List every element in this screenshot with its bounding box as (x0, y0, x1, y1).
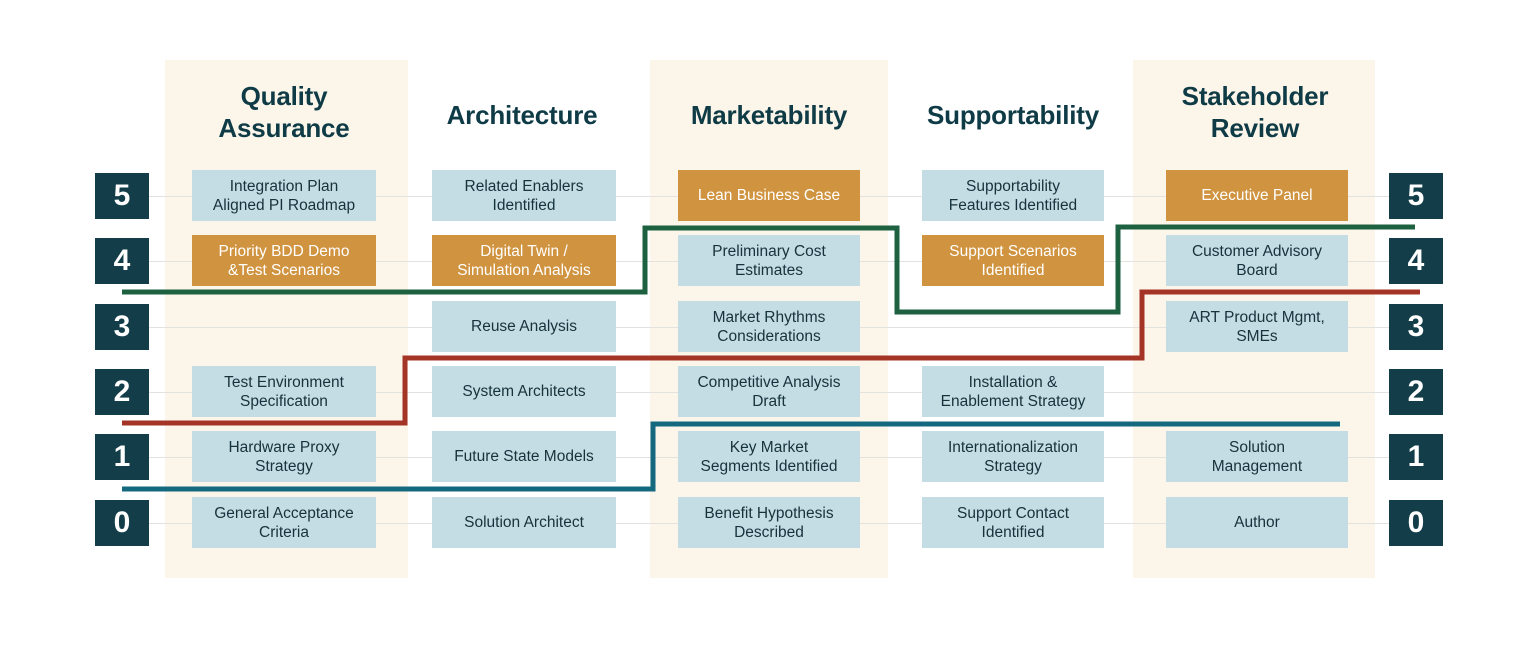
cell-quality-assurance-level-2[interactable]: Test EnvironmentSpecification (192, 366, 376, 417)
level-badge-right-5: 5 (1389, 173, 1443, 219)
cell-stakeholder-review-level-1[interactable]: SolutionManagement (1166, 431, 1348, 482)
cell-label-line: Identified (465, 196, 584, 215)
cell-label: Installation &Enablement Strategy (941, 373, 1086, 411)
maturity-matrix-diagram: QualityAssuranceArchitectureMarketabilit… (0, 0, 1536, 647)
column-header-line: Supportability (908, 99, 1118, 131)
cell-supportability-level-5[interactable]: SupportabilityFeatures Identified (922, 170, 1104, 221)
cell-label-line: Customer Advisory (1192, 242, 1322, 261)
cell-label-line: Related Enablers (465, 177, 584, 196)
cell-architecture-level-1[interactable]: Future State Models (432, 431, 616, 482)
cell-marketability-level-5[interactable]: Lean Business Case (678, 170, 860, 221)
cell-label-line: Supportability (949, 177, 1077, 196)
cell-label: Solution Architect (464, 513, 584, 532)
cell-label: System Architects (462, 382, 585, 401)
cell-marketability-level-1[interactable]: Key MarketSegments Identified (678, 431, 860, 482)
cell-label: Digital Twin /Simulation Analysis (457, 242, 591, 280)
cell-label-line: Author (1234, 513, 1280, 532)
cell-label-line: Criteria (214, 523, 354, 542)
cell-label-line: Installation & (941, 373, 1086, 392)
cell-supportability-level-0[interactable]: Support ContactIdentified (922, 497, 1104, 548)
cell-label: Future State Models (454, 447, 594, 466)
column-header-line: Stakeholder (1135, 80, 1375, 112)
cell-quality-assurance-level-4[interactable]: Priority BDD Demo&Test Scenarios (192, 235, 376, 286)
cell-label-line: Identified (949, 261, 1077, 280)
column-header-line: Assurance (168, 112, 400, 144)
cell-label-line: System Architects (462, 382, 585, 401)
cell-label-line: General Acceptance (214, 504, 354, 523)
cell-supportability-level-4[interactable]: Support ScenariosIdentified (922, 235, 1104, 286)
cell-label: Benefit HypothesisDescribed (704, 504, 833, 542)
cell-label-line: Strategy (948, 457, 1078, 476)
cell-label-line: Benefit Hypothesis (704, 504, 833, 523)
cell-label-line: Estimates (712, 261, 826, 280)
level-badge-value: 2 (114, 375, 131, 409)
cell-stakeholder-review-level-5[interactable]: Executive Panel (1166, 170, 1348, 221)
cell-architecture-level-0[interactable]: Solution Architect (432, 497, 616, 548)
cell-supportability-level-1[interactable]: InternationalizationStrategy (922, 431, 1104, 482)
cell-label-line: &Test Scenarios (219, 261, 350, 280)
cell-architecture-level-2[interactable]: System Architects (432, 366, 616, 417)
cell-label-line: Draft (697, 392, 840, 411)
cell-label: Related EnablersIdentified (465, 177, 584, 215)
level-badge-value: 0 (114, 506, 131, 540)
level-badge-left-0: 0 (95, 500, 149, 546)
cell-stakeholder-review-level-0[interactable]: Author (1166, 497, 1348, 548)
cell-label-line: Integration Plan (213, 177, 355, 196)
cell-label: Competitive AnalysisDraft (697, 373, 840, 411)
level-badge-right-3: 3 (1389, 304, 1443, 350)
cell-label: Customer AdvisoryBoard (1192, 242, 1322, 280)
cell-label: Market RhythmsConsiderations (713, 308, 826, 346)
level-badge-left-5: 5 (95, 173, 149, 219)
cell-label: Test EnvironmentSpecification (224, 373, 344, 411)
level-badge-value: 3 (1408, 310, 1425, 344)
cell-label-line: Board (1192, 261, 1322, 280)
cell-label-line: Support Scenarios (949, 242, 1077, 261)
level-badge-value: 0 (1408, 506, 1425, 540)
cell-label-line: Reuse Analysis (471, 317, 577, 336)
column-header-architecture: Architecture (430, 99, 614, 131)
cell-label-line: Future State Models (454, 447, 594, 466)
cell-architecture-level-4[interactable]: Digital Twin /Simulation Analysis (432, 235, 616, 286)
cell-label: Key MarketSegments Identified (700, 438, 837, 476)
cell-stakeholder-review-level-3[interactable]: ART Product Mgmt,SMEs (1166, 301, 1348, 352)
cell-label-line: Priority BDD Demo (219, 242, 350, 261)
level-badge-right-4: 4 (1389, 238, 1443, 284)
cell-marketability-level-2[interactable]: Competitive AnalysisDraft (678, 366, 860, 417)
cell-label-line: Solution Architect (464, 513, 584, 532)
cell-label: Lean Business Case (698, 186, 840, 205)
cell-label-line: Competitive Analysis (697, 373, 840, 392)
level-badge-value: 5 (114, 179, 131, 213)
cell-label: Integration PlanAligned PI Roadmap (213, 177, 355, 215)
cell-marketability-level-3[interactable]: Market RhythmsConsiderations (678, 301, 860, 352)
cell-label: Support ContactIdentified (957, 504, 1069, 542)
cell-label-line: Features Identified (949, 196, 1077, 215)
column-header-stakeholder-review: StakeholderReview (1135, 80, 1375, 144)
cell-label-line: Internationalization (948, 438, 1078, 457)
level-badge-left-1: 1 (95, 434, 149, 480)
cell-label: SolutionManagement (1212, 438, 1302, 476)
cell-label: Priority BDD Demo&Test Scenarios (219, 242, 350, 280)
column-header-line: Quality (168, 80, 400, 112)
cell-label-line: Lean Business Case (698, 186, 840, 205)
cell-label-line: Described (704, 523, 833, 542)
cell-label-line: Digital Twin / (457, 242, 591, 261)
cell-quality-assurance-level-1[interactable]: Hardware ProxyStrategy (192, 431, 376, 482)
level-badge-value: 3 (114, 310, 131, 344)
cell-label: Preliminary CostEstimates (712, 242, 826, 280)
level-badge-value: 1 (114, 440, 131, 474)
cell-architecture-level-5[interactable]: Related EnablersIdentified (432, 170, 616, 221)
cell-label-line: Management (1212, 457, 1302, 476)
column-header-line: Architecture (430, 99, 614, 131)
column-header-supportability: Supportability (908, 99, 1118, 131)
cell-label-line: Aligned PI Roadmap (213, 196, 355, 215)
level-badge-value: 5 (1408, 179, 1425, 213)
cell-label: General AcceptanceCriteria (214, 504, 354, 542)
cell-label-line: Segments Identified (700, 457, 837, 476)
cell-quality-assurance-level-5[interactable]: Integration PlanAligned PI Roadmap (192, 170, 376, 221)
cell-supportability-level-2[interactable]: Installation &Enablement Strategy (922, 366, 1104, 417)
cell-label-line: Solution (1212, 438, 1302, 457)
cell-label-line: Considerations (713, 327, 826, 346)
level-badge-value: 4 (114, 244, 131, 278)
level-badge-value: 4 (1408, 244, 1425, 278)
level-badge-left-3: 3 (95, 304, 149, 350)
level-badge-left-4: 4 (95, 238, 149, 284)
cell-label: InternationalizationStrategy (948, 438, 1078, 476)
cell-quality-assurance-level-0[interactable]: General AcceptanceCriteria (192, 497, 376, 548)
cell-label-line: Identified (957, 523, 1069, 542)
cell-label: Executive Panel (1201, 186, 1312, 205)
column-header-quality-assurance: QualityAssurance (168, 80, 400, 144)
cell-label-line: Executive Panel (1201, 186, 1312, 205)
cell-label-line: Market Rhythms (713, 308, 826, 327)
level-badge-left-2: 2 (95, 369, 149, 415)
cell-label-line: Simulation Analysis (457, 261, 591, 280)
cell-label-line: Key Market (700, 438, 837, 457)
cell-label: Author (1234, 513, 1280, 532)
cell-label-line: Hardware Proxy (228, 438, 339, 457)
cell-label-line: Support Contact (957, 504, 1069, 523)
level-badge-value: 1 (1408, 440, 1425, 474)
cell-label-line: Specification (224, 392, 344, 411)
level-badge-right-2: 2 (1389, 369, 1443, 415)
cell-marketability-level-0[interactable]: Benefit HypothesisDescribed (678, 497, 860, 548)
cell-label: ART Product Mgmt,SMEs (1189, 308, 1325, 346)
level-badge-right-1: 1 (1389, 434, 1443, 480)
level-badge-right-0: 0 (1389, 500, 1443, 546)
level-badge-value: 2 (1408, 375, 1425, 409)
cell-label-line: Test Environment (224, 373, 344, 392)
column-header-line: Review (1135, 112, 1375, 144)
cell-label-line: ART Product Mgmt, (1189, 308, 1325, 327)
cell-label-line: Strategy (228, 457, 339, 476)
cell-architecture-level-3[interactable]: Reuse Analysis (432, 301, 616, 352)
column-header-line: Marketability (650, 99, 888, 131)
cell-label-line: Preliminary Cost (712, 242, 826, 261)
cell-label: Reuse Analysis (471, 317, 577, 336)
cell-label: SupportabilityFeatures Identified (949, 177, 1077, 215)
column-header-marketability: Marketability (650, 99, 888, 131)
cell-stakeholder-review-level-4[interactable]: Customer AdvisoryBoard (1166, 235, 1348, 286)
cell-label-line: Enablement Strategy (941, 392, 1086, 411)
cell-label: Support ScenariosIdentified (949, 242, 1077, 280)
cell-label: Hardware ProxyStrategy (228, 438, 339, 476)
cell-label-line: SMEs (1189, 327, 1325, 346)
cell-marketability-level-4[interactable]: Preliminary CostEstimates (678, 235, 860, 286)
